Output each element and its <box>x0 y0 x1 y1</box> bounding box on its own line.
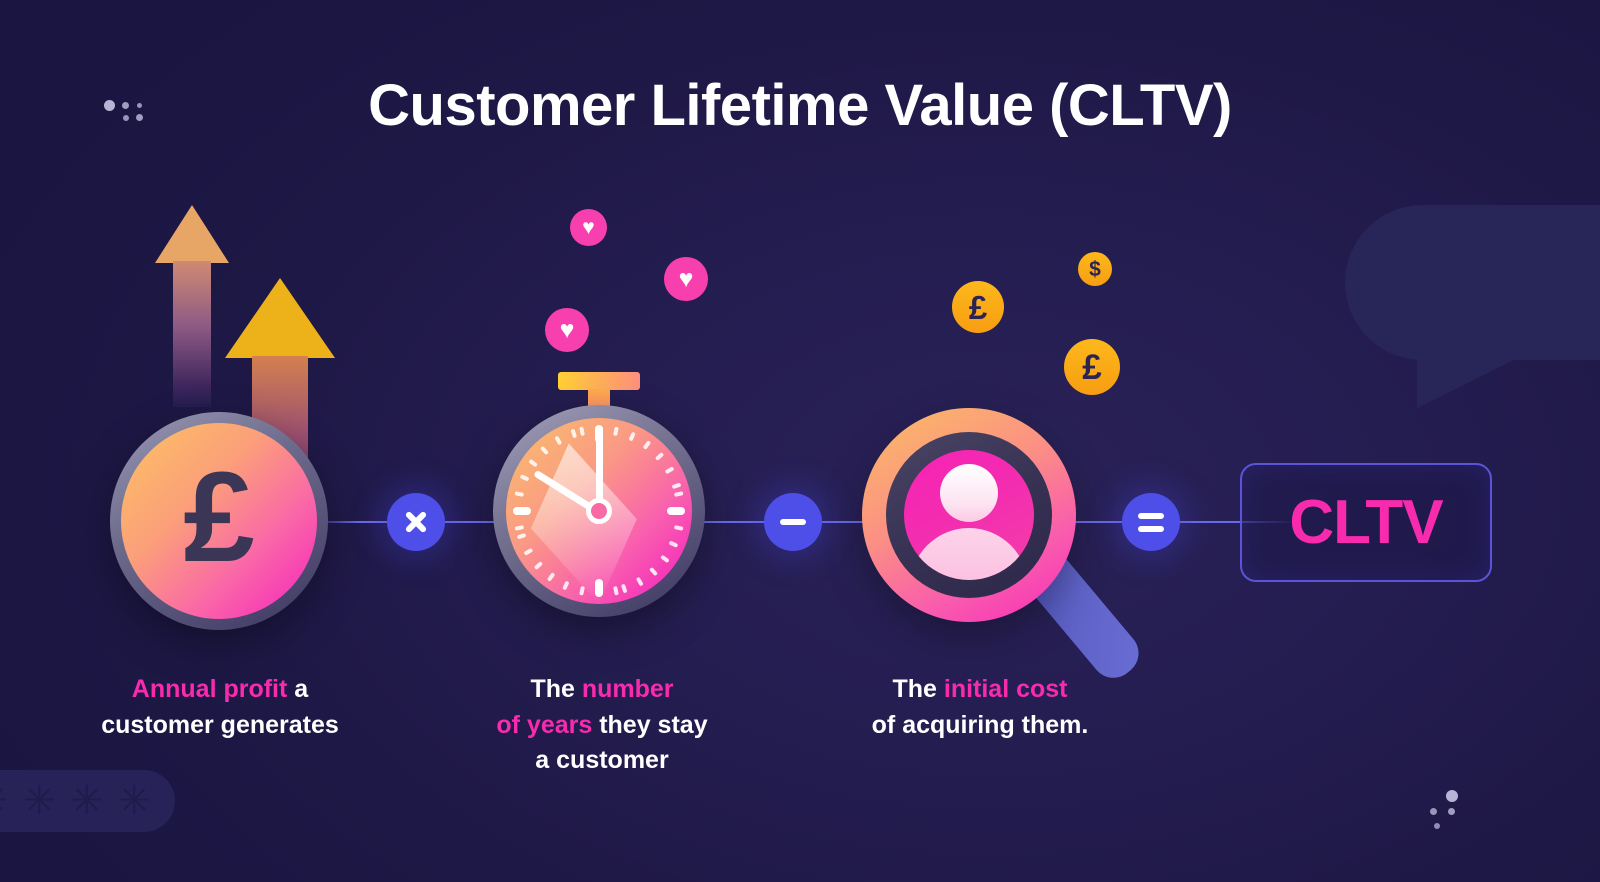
person-body <box>910 528 1028 580</box>
operator-equals <box>1122 493 1180 551</box>
operator-multiply <box>387 493 445 551</box>
coin-glyph: $ <box>1089 259 1101 280</box>
star-pill-decoration: ✳ ✳ ✳ ✳ <box>0 770 175 832</box>
caption-text: a customer <box>535 746 668 774</box>
speech-bubble-decoration <box>1345 205 1600 360</box>
coin-glyph: £ <box>1082 350 1101 385</box>
up-arrow-small-icon <box>155 205 229 405</box>
asterisk-icon: ✳ <box>117 781 151 821</box>
heart-glyph: ♥ <box>582 217 594 238</box>
caption-text: The <box>892 675 943 703</box>
operator-minus <box>764 493 822 551</box>
person-head <box>940 464 998 522</box>
caption-number-of-years: The number of years they stay a customer <box>452 672 752 779</box>
result-label: CLTV <box>1289 487 1442 558</box>
magnifier-lens <box>904 450 1034 580</box>
pound-coin-icon: £ <box>110 412 328 630</box>
coin-dollar-icon: $ <box>1078 252 1112 286</box>
caption-text: of acquiring them. <box>872 711 1089 739</box>
pound-glyph: £ <box>183 454 254 582</box>
caption-text: they stay <box>592 711 707 739</box>
asterisk-icon: ✳ <box>0 781 8 821</box>
dots-decoration-bottom-right <box>1428 790 1462 830</box>
stopwatch-icon <box>493 405 705 617</box>
stopwatch-button <box>558 372 640 390</box>
heart-glyph: ♥ <box>679 267 694 292</box>
heart-glyph: ♥ <box>560 318 575 343</box>
caption-highlight: initial cost <box>944 675 1068 703</box>
infographic-canvas: ✳ ✳ ✳ ✳ Customer Lifetime Value (CLTV) £ <box>0 0 1600 882</box>
magnifier-person-icon <box>862 408 1076 622</box>
caption-annual-profit: Annual profit a customer generates <box>60 672 380 743</box>
heart-icon: ♥ <box>545 308 589 352</box>
heart-icon: ♥ <box>570 209 607 246</box>
caption-highlight: number <box>582 675 674 703</box>
caption-text: a <box>287 675 308 703</box>
caption-text: The <box>530 675 581 703</box>
asterisk-icon: ✳ <box>70 781 104 821</box>
asterisk-icon: ✳ <box>22 781 56 821</box>
result-box-cltv: CLTV <box>1240 463 1492 582</box>
coin-glyph: £ <box>969 291 987 324</box>
page-title: Customer Lifetime Value (CLTV) <box>0 72 1600 139</box>
caption-initial-cost: The initial cost of acquiring them. <box>820 672 1140 743</box>
coin-pound-icon: £ <box>952 281 1004 333</box>
caption-highlight: Annual profit <box>132 675 288 703</box>
coin-pound-icon: £ <box>1064 339 1120 395</box>
heart-icon: ♥ <box>664 257 708 301</box>
caption-text: customer generates <box>101 711 339 739</box>
caption-highlight: of years <box>496 711 592 739</box>
